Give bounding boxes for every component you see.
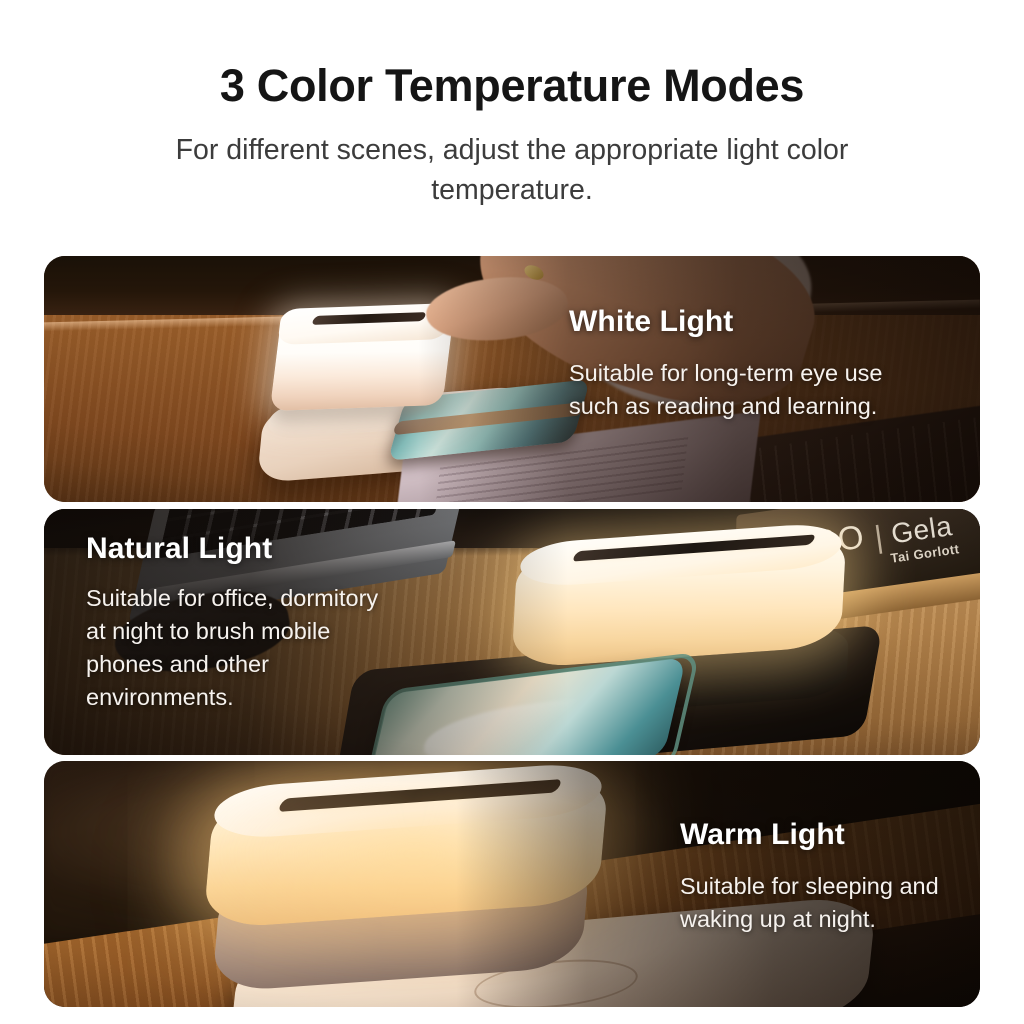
panel-copy-natural-light: Natural Light Suitable for office, dormi… bbox=[86, 531, 486, 715]
panel-description: Suitable for office, dormitory at night … bbox=[86, 567, 486, 715]
panel-title: White Light bbox=[569, 304, 969, 340]
feature-panel-natural-light: ALSO|Gela Tai Gorlott Natural Light Suit… bbox=[44, 509, 980, 755]
feature-panel-white-light: White Light Suitable for long-term eye u… bbox=[44, 256, 980, 502]
page-title: 3 Color Temperature Modes bbox=[0, 0, 1024, 111]
panel-description: Suitable for sleeping and waking up at n… bbox=[680, 853, 980, 936]
panel-title: Warm Light bbox=[680, 817, 980, 853]
panel-description: Suitable for long-term eye use such as r… bbox=[569, 340, 969, 423]
feature-panel-warm-light: Warm Light Suitable for sleeping and wak… bbox=[44, 761, 980, 1007]
panel-title: Natural Light bbox=[86, 531, 486, 567]
page-subtitle: For different scenes, adjust the appropr… bbox=[97, 111, 927, 210]
header: 3 Color Temperature Modes For different … bbox=[0, 0, 1024, 210]
panel-copy-white-light: White Light Suitable for long-term eye u… bbox=[569, 304, 969, 423]
panel-copy-warm-light: Warm Light Suitable for sleeping and wak… bbox=[680, 817, 980, 936]
product-feature-page: 3 Color Temperature Modes For different … bbox=[0, 0, 1024, 1024]
